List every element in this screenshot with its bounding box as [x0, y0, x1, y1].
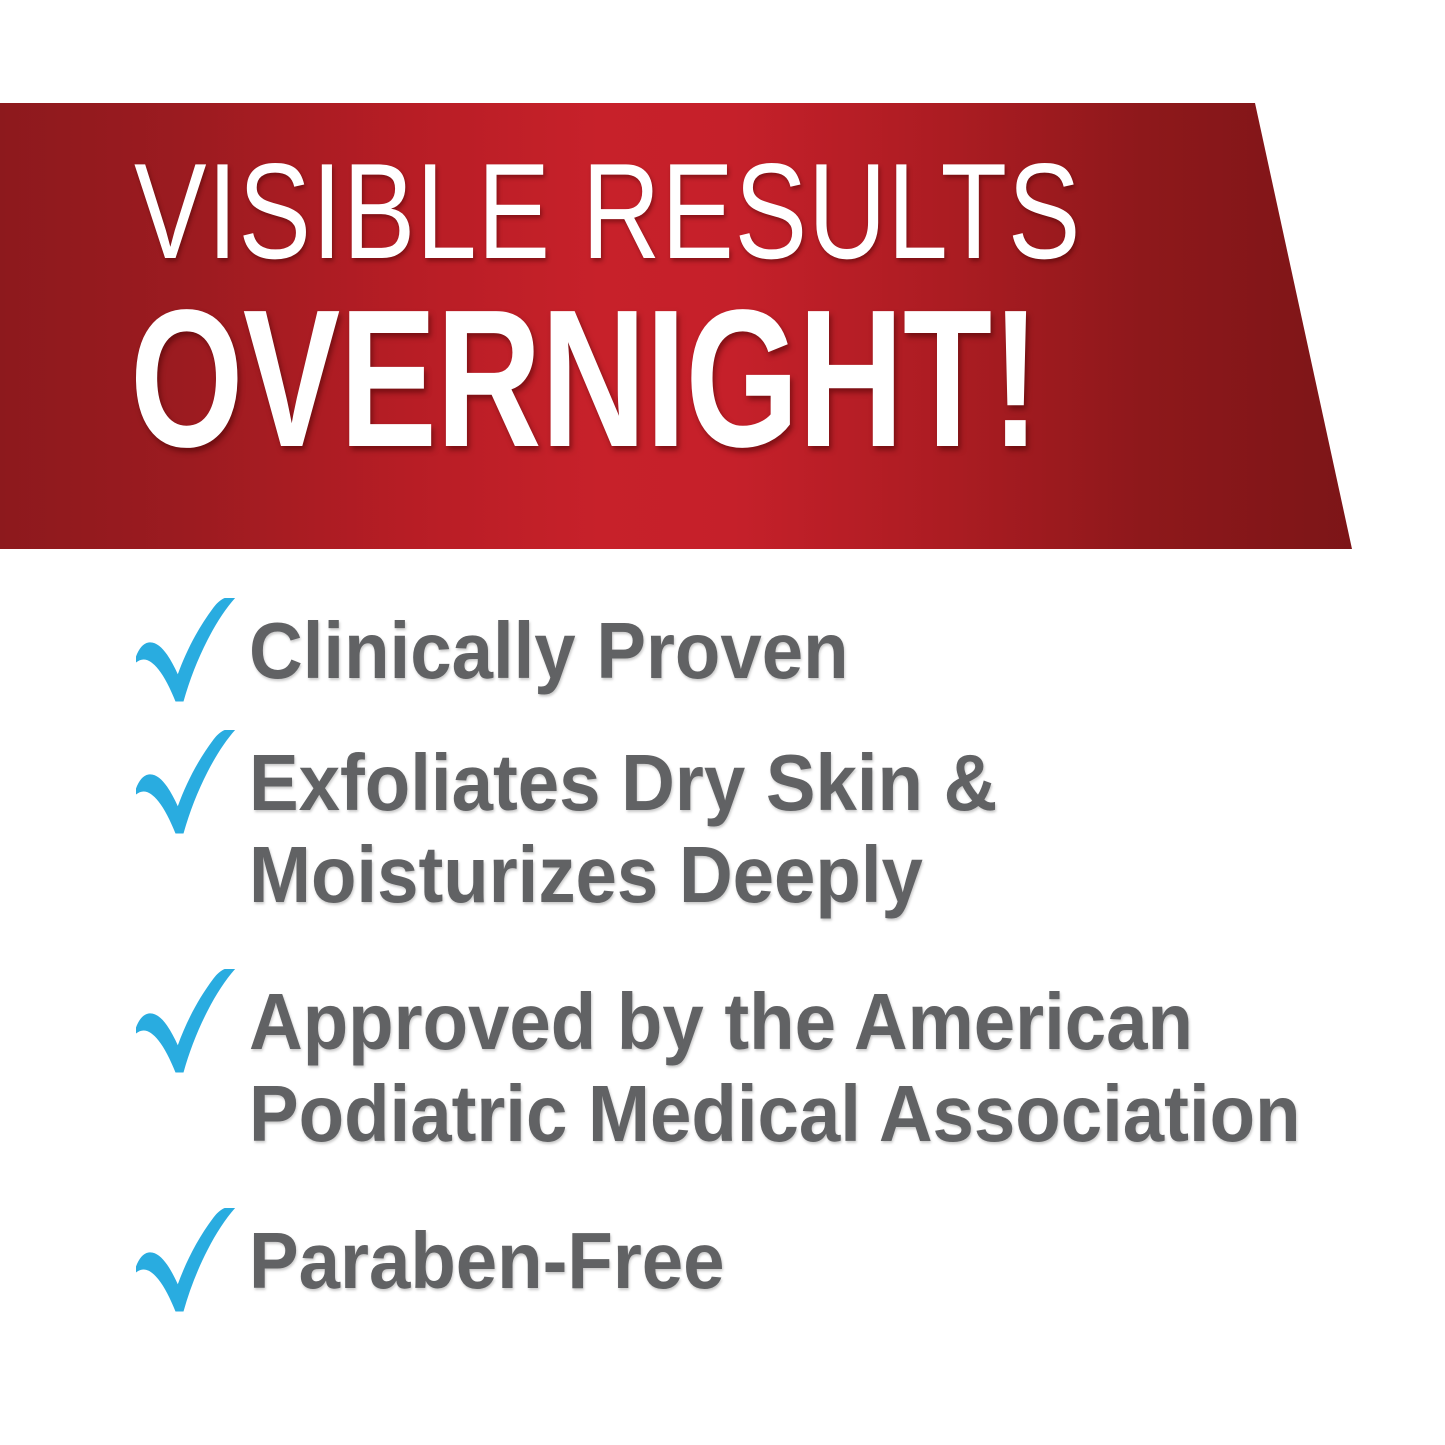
benefit-label: Approved by the American Podiatric Medic…: [249, 976, 1301, 1160]
benefit-label: Exfoliates Dry Skin & Moisturizes Deeply: [249, 737, 997, 921]
headline-banner-inner: VISIBLE RESULTS OVERNIGHT!: [0, 103, 1360, 549]
checkmark-icon: [134, 969, 242, 1073]
benefit-item: Paraben-Free: [0, 596, 1445, 597]
headline-line-2: OVERNIGHT!: [130, 281, 964, 477]
checkmark-icon: [134, 598, 242, 702]
promo-poster: VISIBLE RESULTS OVERNIGHT! Clinically Pr…: [0, 0, 1445, 1445]
checkmark-icon: [134, 1208, 242, 1312]
headline-banner: VISIBLE RESULTS OVERNIGHT!: [0, 103, 1360, 549]
headline-line-1: VISIBLE RESULTS: [134, 143, 966, 279]
benefit-label: Clinically Proven: [249, 605, 849, 697]
benefits-list: Clinically Proven Exfoliates Dry Skin & …: [0, 593, 1445, 597]
checkmark-icon: [134, 730, 242, 834]
benefit-label: Paraben-Free: [249, 1215, 725, 1307]
